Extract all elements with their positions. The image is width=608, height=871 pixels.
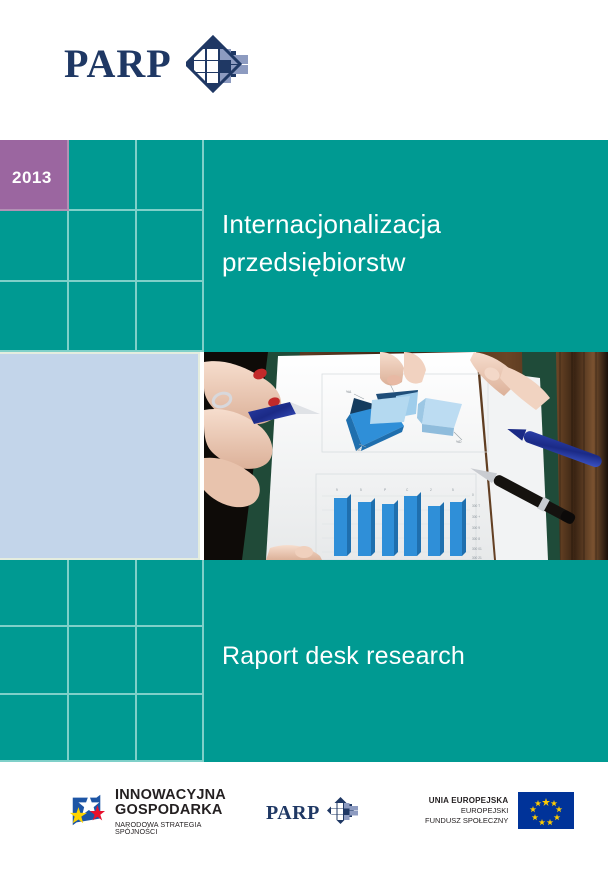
svg-text:5: 5 — [452, 488, 454, 492]
grid-cell — [137, 211, 204, 282]
subtitle-panel: Raport desk research — [204, 560, 608, 762]
grid-cell — [69, 695, 137, 762]
grid-band-bottom — [0, 560, 204, 762]
parp-footer-logo: PARP — [266, 796, 358, 830]
innowacyjna-gospodarka-logo: INNOWACYJNA GOSPODARKA NARODOWA STRATEGI… — [68, 790, 228, 834]
grid-cell — [137, 695, 204, 762]
parp-wordmark: PARP — [64, 44, 172, 84]
parp-header-logo: PARP — [64, 33, 244, 95]
eu-text-block: UNIA EUROPEJSKA EUROPEJSKI FUNDUSZ SPOŁE… — [425, 796, 508, 825]
year-badge-label: 2013 — [12, 168, 52, 188]
ig-stars-icon — [68, 791, 106, 834]
grid-cell — [137, 140, 204, 211]
svg-text:0: 0 — [472, 493, 474, 497]
parp-diamond-icon-small — [327, 796, 358, 830]
grid-cell — [0, 211, 69, 282]
svg-text:300 T: 300 T — [472, 504, 480, 508]
eu-line2: EUROPEJSKI — [425, 806, 508, 815]
grid-cell — [0, 282, 69, 352]
parp-diamond-icon — [186, 35, 248, 93]
ig-line3: NARODOWA STRATEGIA SPÓJNOŚCI — [115, 821, 228, 836]
svg-text:300 01: 300 01 — [472, 547, 482, 551]
grid-cell — [69, 211, 137, 282]
european-union-logo: UNIA EUROPEJSKA EUROPEJSKI FUNDUSZ SPOŁE… — [425, 792, 574, 829]
grid-cell — [69, 560, 137, 627]
svg-text:300 8: 300 8 — [472, 537, 480, 541]
cover-photograph: %A%B %C%D — [204, 352, 608, 560]
eu-line3: FUNDUSZ SPOŁECZNY — [425, 816, 508, 825]
svg-text:%A: %A — [346, 390, 352, 394]
ig-text-block: INNOWACYJNA GOSPODARKA NARODOWA STRATEGI… — [115, 788, 228, 836]
cover-composition: 2013 Internacjonalizacja przedsiębiorstw — [0, 140, 608, 762]
grid-cell — [137, 627, 204, 695]
cover-page: PARP — [0, 0, 608, 871]
footer-logos: INNOWACYJNA GOSPODARKA NARODOWA STRATEGI… — [0, 782, 608, 844]
svg-text:5: 5 — [360, 488, 362, 492]
svg-text:300 9: 300 9 — [472, 526, 480, 530]
svg-text:300 +: 300 + — [472, 515, 480, 519]
ig-line1: INNOWACYJNA — [115, 788, 228, 803]
grid-cell — [0, 560, 69, 627]
ig-line2: GOSPODARKA — [115, 803, 228, 818]
grid-cell — [0, 627, 69, 695]
page-title-line2: przedsiębiorstw — [222, 244, 441, 282]
eu-flag-icon — [518, 792, 574, 829]
svg-text:%C: %C — [356, 448, 362, 452]
light-blue-block — [0, 352, 200, 560]
grid-cell — [137, 282, 204, 352]
grid-cell — [0, 695, 69, 762]
page-title: Internacjonalizacja przedsiębiorstw — [222, 206, 441, 281]
grid-cell — [69, 282, 137, 352]
eu-line1: UNIA EUROPEJSKA — [425, 796, 508, 806]
svg-text:P: P — [384, 488, 386, 492]
year-badge-cell: 2013 — [0, 140, 69, 211]
grid-cell — [69, 627, 137, 695]
grid-cell — [69, 140, 137, 211]
svg-text:9: 9 — [336, 488, 338, 492]
svg-text:2: 2 — [430, 488, 432, 492]
grid-cell — [137, 560, 204, 627]
grid-band-top: 2013 — [0, 140, 204, 352]
svg-text:%D: %D — [456, 440, 462, 444]
page-title-line1: Internacjonalizacja — [222, 206, 441, 244]
page-subtitle: Raport desk research — [222, 642, 465, 671]
title-panel: Internacjonalizacja przedsiębiorstw — [204, 140, 608, 352]
parp-footer-wordmark: PARP — [266, 803, 320, 823]
